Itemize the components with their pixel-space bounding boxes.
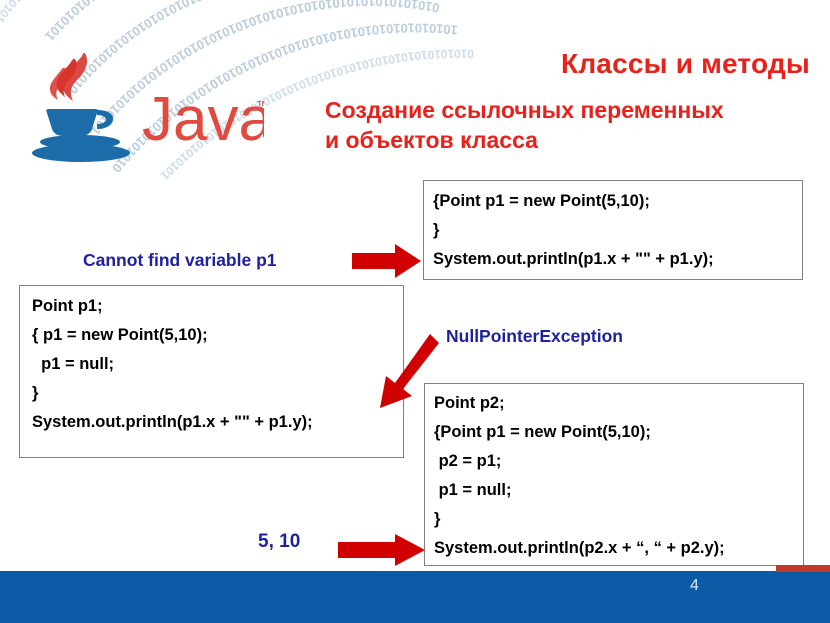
slide-canvas: 0101010101010101010101010101010101010101… [0, 0, 830, 623]
annotation-null-pointer-exception: NullPointerException [446, 326, 623, 347]
footer-accent-stripe [776, 565, 830, 572]
code-line: {Point p1 = new Point(5,10); [434, 418, 803, 447]
slide-subtitle-line2: и объектов класса [325, 125, 815, 155]
arrow-right-icon [352, 243, 422, 279]
slide-subtitle-line1: Создание ссылочных переменных [325, 97, 724, 123]
arrow-right-icon [338, 533, 426, 567]
code-line: p1 = null; [32, 350, 403, 379]
slide-title: Классы и методы [330, 48, 810, 80]
code-box-bottom-right: Point p2; {Point p1 = new Point(5,10); p… [424, 383, 804, 566]
arrow-down-left-icon [378, 332, 440, 412]
annotation-cannot-find-variable: Cannot find variable p1 [83, 250, 277, 271]
java-trademark: ™ [256, 98, 264, 113]
code-line: } [434, 505, 803, 534]
code-line: } [32, 379, 403, 408]
java-cup-icon [32, 109, 130, 162]
code-line: p1 = null; [434, 476, 803, 505]
code-line: {Point p1 = new Point(5,10); [433, 187, 802, 216]
annotation-output-value: 5, 10 [258, 531, 300, 553]
code-line: Point p1; [32, 292, 403, 321]
code-line: System.out.println(p1.x + "" + p1.y); [32, 408, 403, 437]
svg-text:010101010101010101010101010101: 0101010101010101010101010101010101010101… [42, 0, 401, 44]
code-box-left: Point p1; { p1 = new Point(5,10); p1 = n… [19, 285, 404, 458]
code-line: System.out.println(p1.x + "" + p1.y); [433, 245, 802, 274]
page-number: 4 [690, 577, 699, 595]
java-steam-icon [50, 53, 87, 101]
code-line: System.out.println(p2.x + “, “ + p2.y); [434, 534, 803, 563]
code-line: p2 = p1; [434, 447, 803, 476]
svg-text:101010101010101010101010101010: 1010101010101010101010101010101010101010… [0, 0, 301, 31]
code-line: } [433, 216, 802, 245]
java-logo: Java ™ [24, 52, 264, 162]
slide-subtitle: Создание ссылочных переменных и объектов… [325, 95, 815, 155]
footer-bar [0, 571, 830, 623]
java-wordmark: Java [142, 85, 264, 154]
code-line: Point p2; [434, 389, 803, 418]
code-box-top-right: {Point p1 = new Point(5,10); } System.ou… [423, 180, 803, 280]
code-line: { p1 = new Point(5,10); [32, 321, 403, 350]
